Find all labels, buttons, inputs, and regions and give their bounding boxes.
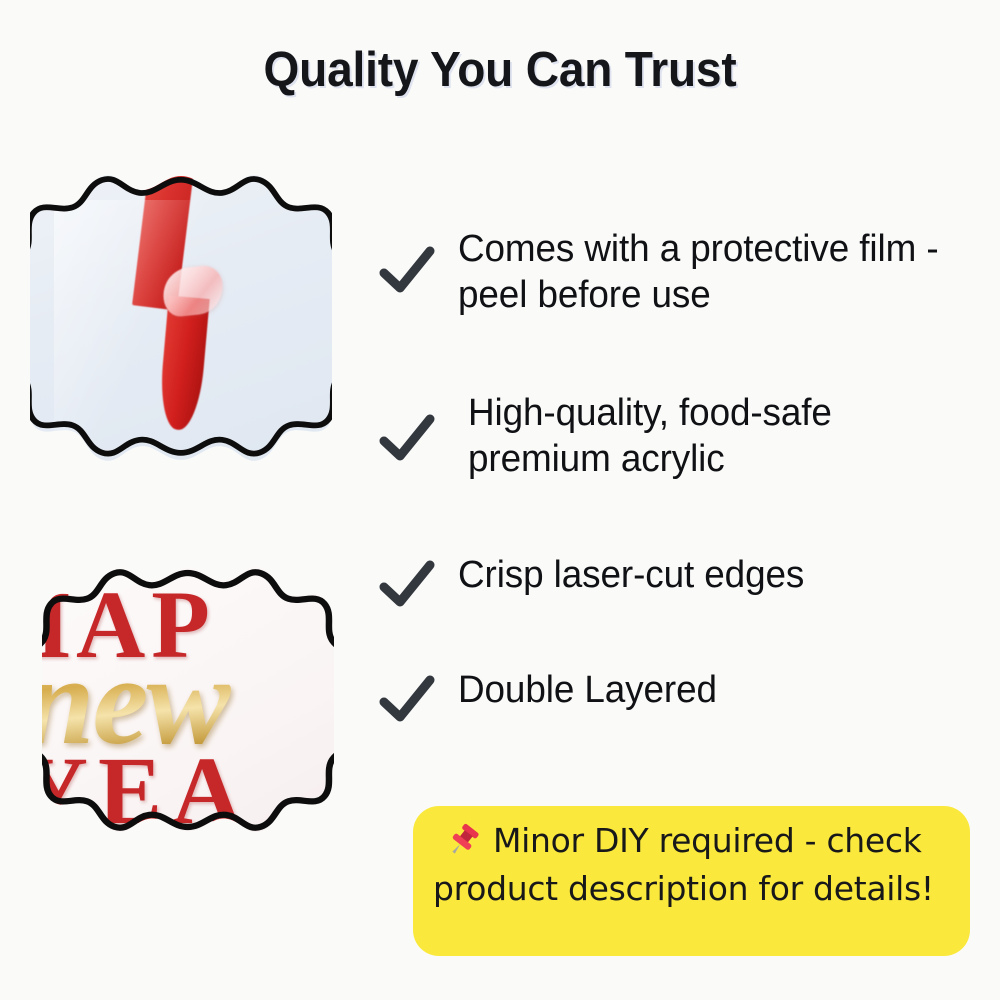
check-icon <box>376 240 438 302</box>
check-icon <box>376 669 438 731</box>
diy-note-line-2: product description for details! <box>433 868 950 910</box>
list-item: High-quality, food-safe premium acrylic <box>376 390 972 483</box>
diy-note-line-1: Minor DIY required - check <box>493 820 922 862</box>
check-icon <box>376 408 438 470</box>
list-item: Crisp laser-cut edges <box>376 552 815 616</box>
scallop-border <box>30 179 332 454</box>
list-item: Comes with a protective film - peel befo… <box>376 226 972 319</box>
list-item: Double Layered <box>376 667 725 731</box>
scallop-border <box>42 572 334 827</box>
diy-note-badge: Minor DIY required - check product descr… <box>413 806 970 956</box>
list-item-label: Double Layered <box>458 667 717 713</box>
double-layered-sign-photo: HAP YEA new <box>42 560 334 852</box>
check-icon <box>376 554 438 616</box>
pushpin-icon <box>447 823 483 859</box>
list-item-label: Crisp laser-cut edges <box>458 552 804 598</box>
list-item-label: High-quality, food-safe premium acrylic <box>468 390 957 483</box>
infographic-canvas: Quality You Can Trust <box>0 0 1000 1000</box>
page-title: Quality You Can Trust <box>30 42 970 98</box>
list-item-label: Comes with a protective film - peel befo… <box>458 226 957 319</box>
protective-film-photo <box>30 170 332 472</box>
